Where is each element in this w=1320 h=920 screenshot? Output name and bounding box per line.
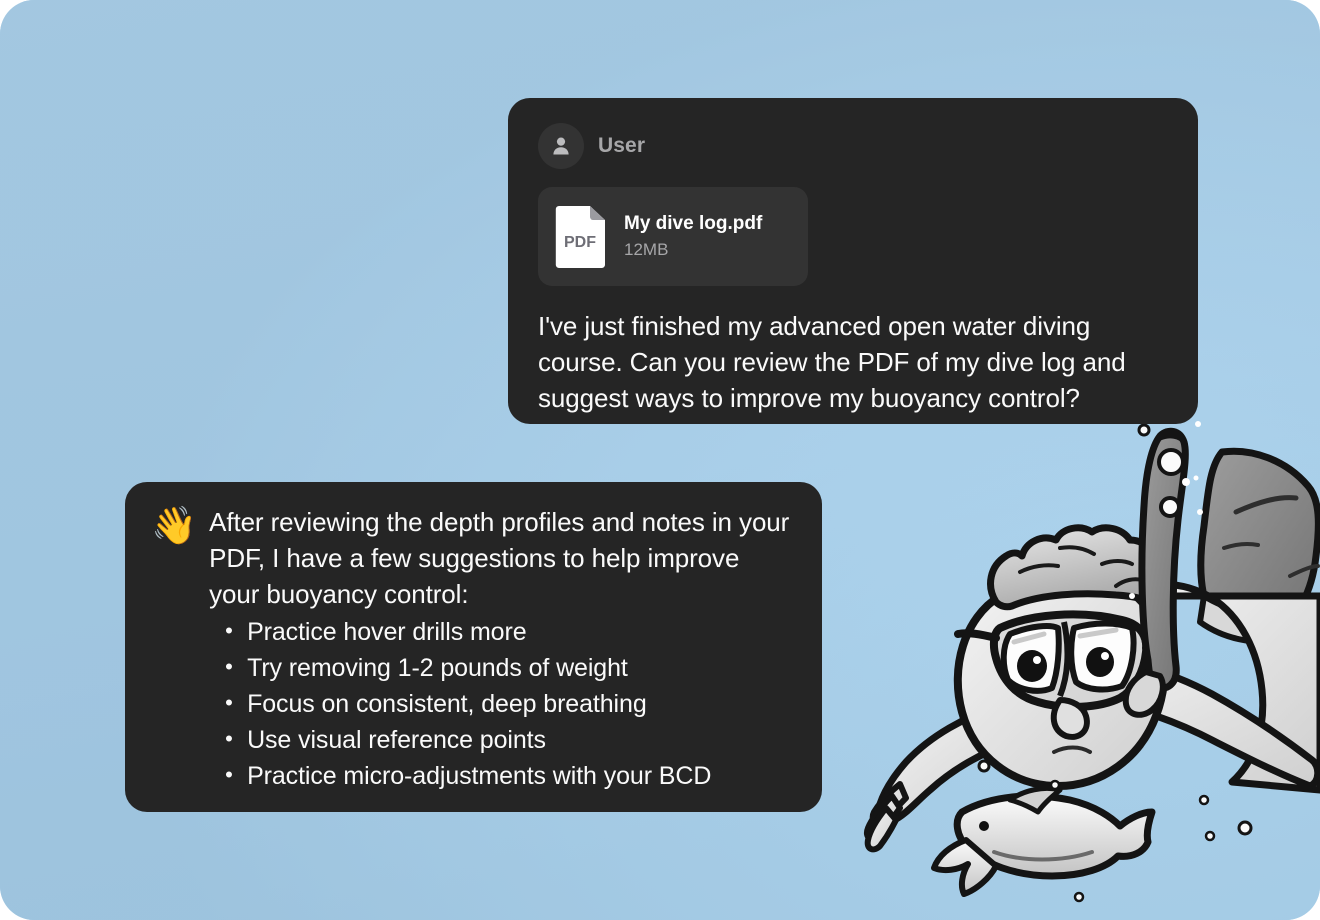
bubbles [979,383,1251,901]
suggestion-item: Try removing 1-2 pounds of weight [247,650,794,686]
suggestion-item: Practice micro-adjustments with your BCD [247,758,794,794]
assistant-message-content: 👋 After reviewing the depth profiles and… [151,504,794,794]
svg-text:PDF: PDF [564,234,596,251]
assistant-message-bubble: 👋 After reviewing the depth profiles and… [125,482,822,812]
chat-scene: User PDF My dive log.pdf 12MB I've just … [0,0,1320,920]
person-avatar-icon [538,123,584,169]
user-message-text: I've just finished my advanced open wate… [538,308,1168,416]
user-name-label: User [598,134,645,158]
waving-hand-emoji: 👋 [151,506,197,546]
suggestion-item: Use visual reference points [247,722,794,758]
pdf-attachment-card[interactable]: PDF My dive log.pdf 12MB [538,187,808,286]
suggestion-item: Practice hover drills more [247,614,794,650]
user-message-header: User [538,122,1168,170]
snorkeler-figure [867,431,1320,849]
suggestion-list: Practice hover drills moreTry removing 1… [209,614,794,794]
assistant-intro-text: After reviewing the depth profiles and n… [209,504,794,612]
attachment-filename: My dive log.pdf [624,213,762,235]
attachment-filesize: 12MB [624,240,762,260]
pdf-file-icon: PDF [554,203,608,270]
fish-figure [934,788,1152,894]
assistant-text-column: After reviewing the depth profiles and n… [209,504,794,794]
user-message-bubble: User PDF My dive log.pdf 12MB I've just … [508,98,1198,424]
attachment-meta: My dive log.pdf 12MB [624,213,762,260]
suggestion-item: Focus on consistent, deep breathing [247,686,794,722]
